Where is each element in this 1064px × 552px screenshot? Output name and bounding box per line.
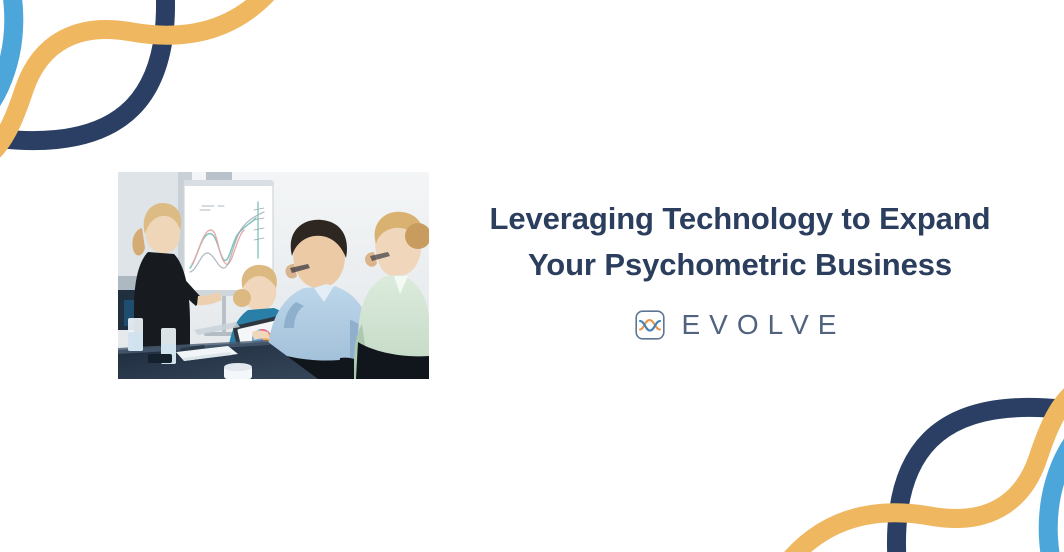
ribbon-light-blue [0,0,14,148]
meeting-photo [118,172,429,379]
ribbon-navy [0,0,165,141]
evolve-waves-icon [635,310,665,340]
page-title: Leveraging Technology to Expand Your Psy… [452,196,1028,288]
ribbon-gold [788,376,1064,552]
ribbon-gold [0,0,274,172]
headline-line-1: Leveraging Technology to Expand [452,196,1028,242]
evolve-wordmark: EVOLVE [680,311,846,339]
top-left-ribbons-decoration [0,0,282,196]
slide-content-column: Leveraging Technology to Expand Your Psy… [452,196,1028,340]
headline-line-2: Your Psychometric Business [452,242,1028,288]
ribbon-light-blue [1048,400,1064,552]
ribbon-navy [897,407,1064,552]
presentation-slide: Leveraging Technology to Expand Your Psy… [0,0,1064,552]
evolve-logo-lockup: EVOLVE [635,310,846,340]
bottom-right-ribbons-decoration [780,352,1064,552]
